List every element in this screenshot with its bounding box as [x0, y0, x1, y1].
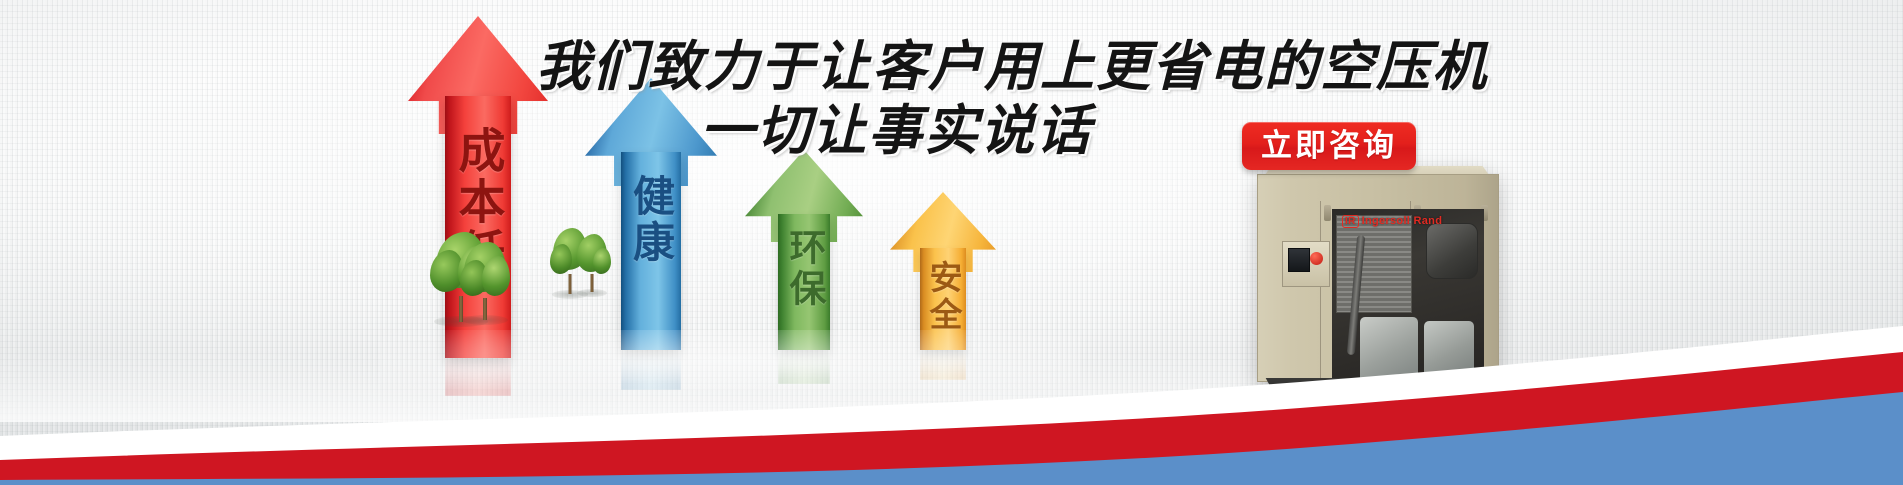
cabinet-handle: [1324, 205, 1331, 221]
arrow-health-label: 健康: [621, 174, 682, 266]
wave-svg: [0, 310, 1903, 485]
brand-wordmark: Ingersoll Rand: [1362, 215, 1443, 227]
consult-now-button[interactable]: 立即咨询: [1242, 122, 1416, 170]
emergency-stop-icon: [1310, 252, 1323, 265]
bottom-wave-decoration: [0, 310, 1903, 485]
ingersoll-rand-logo: IRIngersoll Rand: [1342, 215, 1442, 228]
control-panel-screen: [1288, 248, 1310, 272]
consult-now-button-label: 立即咨询: [1242, 122, 1416, 170]
compressor-radiator: [1336, 215, 1412, 313]
compressor-control-panel: [1282, 241, 1330, 287]
tree-icon: [575, 232, 609, 294]
promo-banner: 安全 环保 健康 成本低: [0, 0, 1903, 485]
ir-mark: IR: [1342, 215, 1359, 228]
arrow-environmental-label: 环保: [777, 228, 831, 310]
compressor-motor: [1426, 223, 1478, 279]
headline-line-2: 一切让事实说话: [700, 86, 1092, 165]
